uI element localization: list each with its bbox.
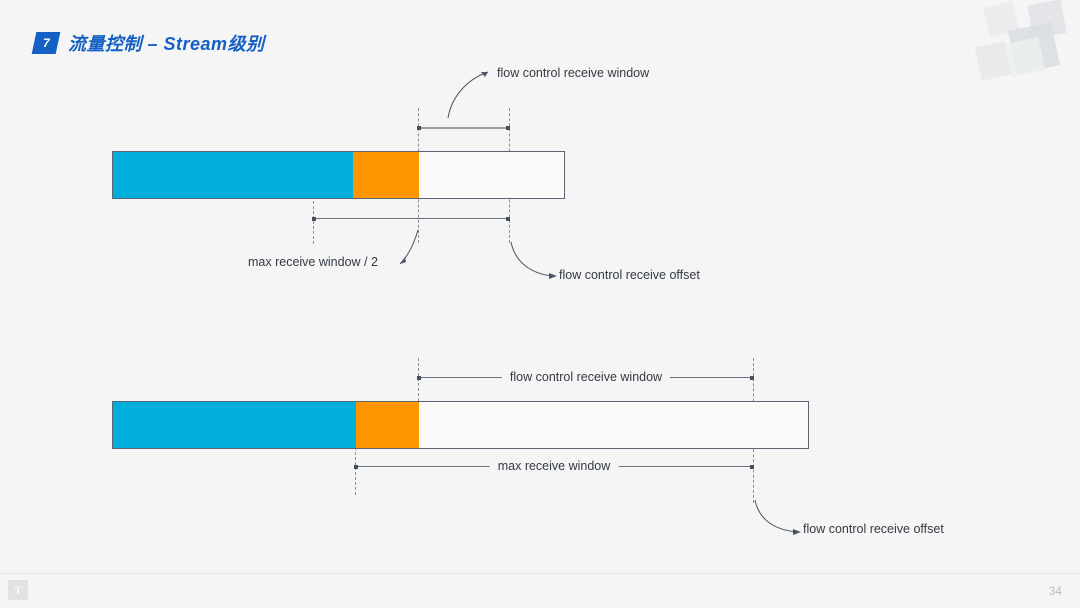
dimension-label-flow-control-receive-window-bottom: flow control receive window <box>502 370 670 384</box>
flow-control-bar-bottom <box>112 401 809 449</box>
guide-line-max-window-start <box>355 447 356 495</box>
annotation-flow-control-receive-offset-bottom: flow control receive offset <box>803 522 944 536</box>
dimension-label-max-receive-window: max receive window <box>490 459 619 473</box>
guide-line-flow-window-start <box>418 358 419 406</box>
footer-divider <box>0 573 1080 574</box>
dimension-cap-right <box>750 376 754 380</box>
dimension-cap-right <box>750 465 754 469</box>
dimension-cap-left <box>417 376 421 380</box>
bar-segment-available <box>419 402 808 448</box>
footer-logo: T <box>8 580 28 600</box>
footer-logo-glyph: T <box>14 583 22 598</box>
dimension-cap-left <box>354 465 358 469</box>
page-number: 34 <box>1049 584 1062 598</box>
diagram-bottom: flow control receive window max receive … <box>0 0 1080 608</box>
leader-line-flow-control-receive-offset-bottom <box>749 498 811 542</box>
slide-canvas: 7 流量控制 – Stream级别 flow control receive w… <box>0 0 1080 608</box>
bar-segment-consumed <box>113 402 356 448</box>
bar-segment-buffered <box>356 402 419 448</box>
